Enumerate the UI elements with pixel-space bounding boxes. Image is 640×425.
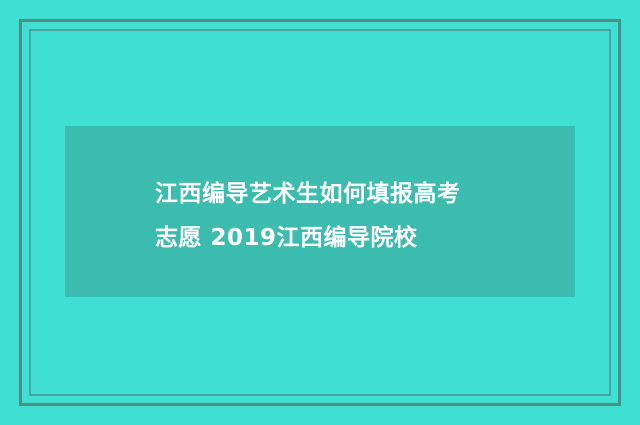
- poster-canvas: 江西编导艺术生如何填报高考 志愿 2019江西编导院校: [0, 0, 640, 425]
- headline-block: 江西编导艺术生如何填报高考 志愿 2019江西编导院校: [155, 172, 555, 260]
- headline-line-1: 江西编导艺术生如何填报高考: [155, 172, 555, 216]
- content-panel: 江西编导艺术生如何填报高考 志愿 2019江西编导院校: [65, 126, 575, 297]
- headline-line-2: 志愿 2019江西编导院校: [155, 216, 555, 260]
